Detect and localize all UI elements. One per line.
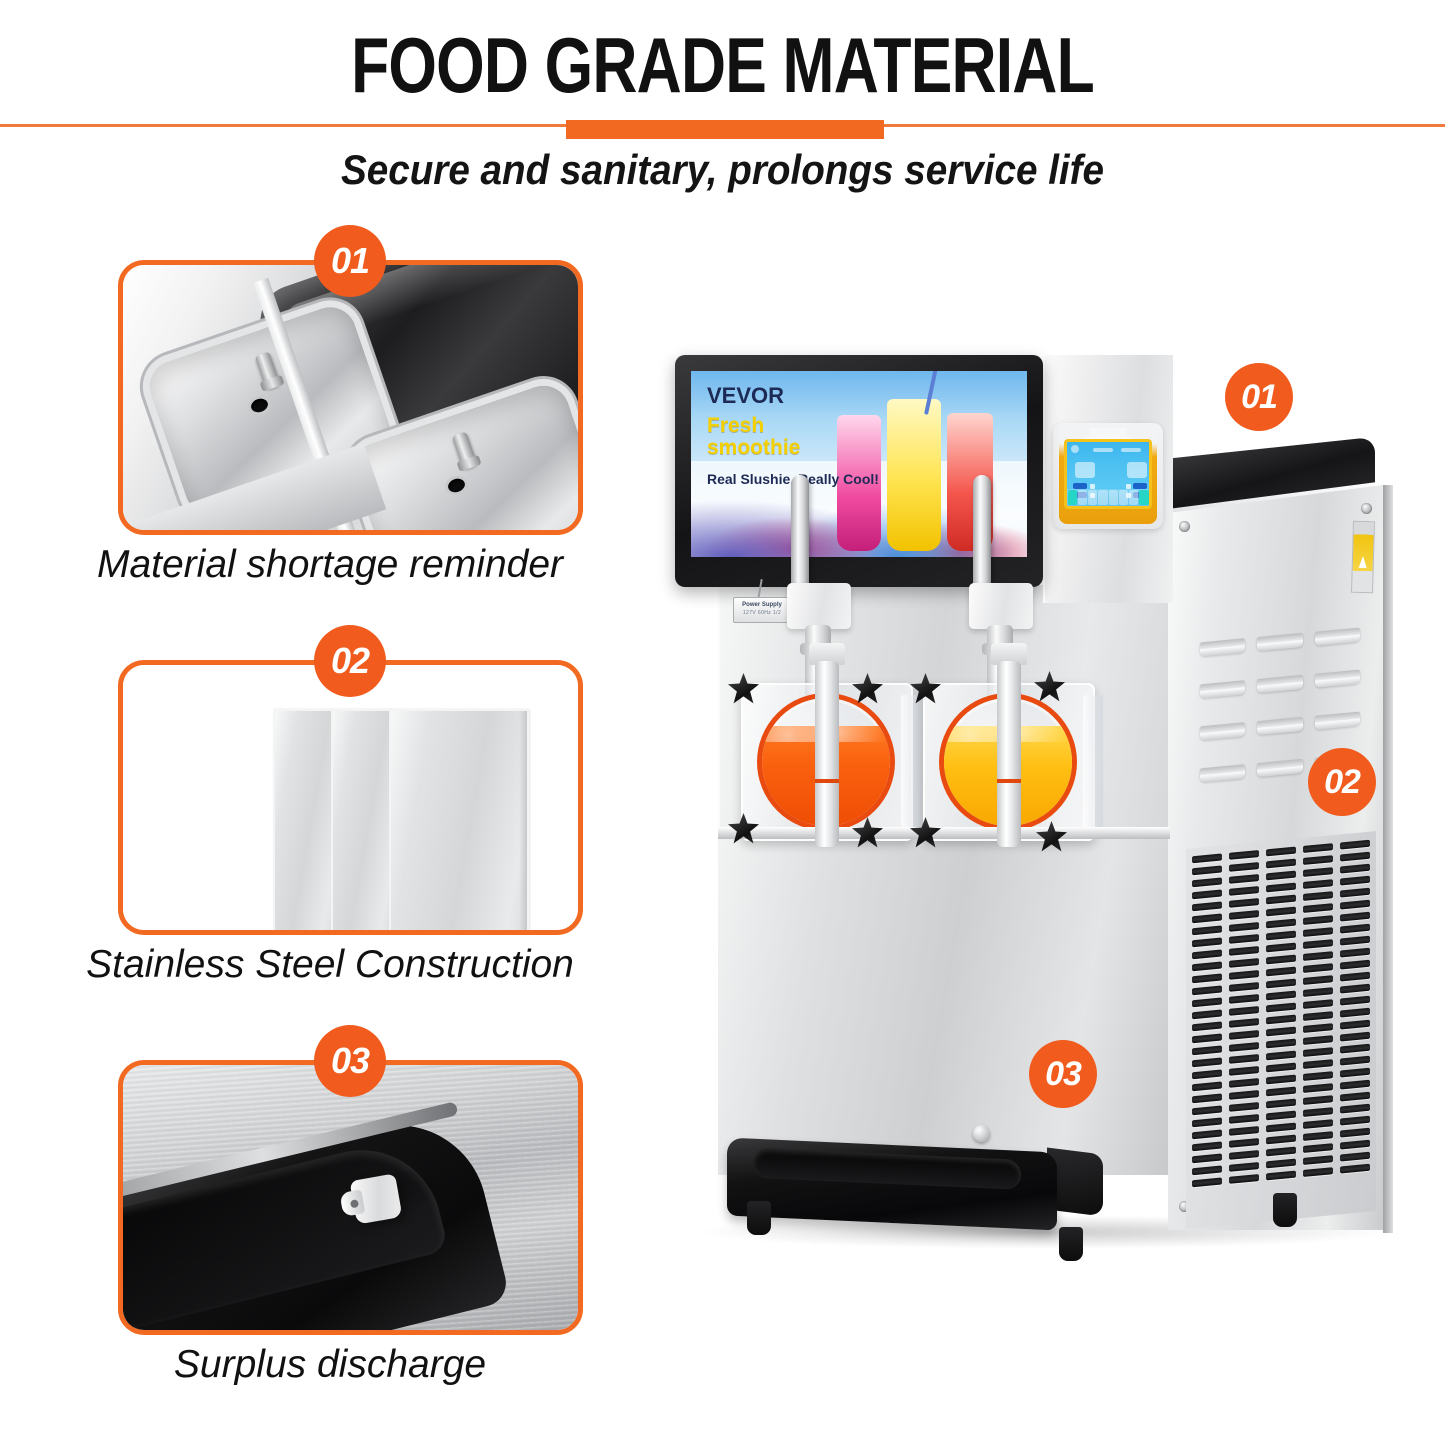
feature-badge-01: 01: [314, 225, 386, 297]
dispense-handle-right[interactable]: [973, 475, 991, 593]
steel-panel-3: [389, 709, 529, 935]
condenser-grille: [1186, 831, 1376, 1229]
right-pause-key[interactable]: [1139, 490, 1148, 505]
panel-screw: [1179, 521, 1190, 532]
control-key-row: [1067, 489, 1149, 506]
product-machine-image: VEVOR Freshsmoothie Real Slushie, Really…: [655, 335, 1445, 1335]
hopper-shelf: [718, 827, 1170, 839]
power-supply-label: Power Supply 127V 60Hz 1/2: [733, 597, 791, 623]
function-key-6[interactable]: [1129, 490, 1138, 505]
display-brand: VEVOR: [707, 383, 784, 409]
feature-03-frame: [118, 1060, 583, 1335]
power-supply-title: Power Supply: [734, 601, 790, 610]
dispense-handle-left[interactable]: [791, 475, 809, 593]
touchscreen-control-panel[interactable]: [1064, 439, 1152, 509]
title-accent-bar: [566, 120, 884, 139]
page-subtitle: Secure and sanitary, prolongs service li…: [58, 146, 1387, 194]
door-latch-knob[interactable]: [973, 1125, 990, 1142]
warning-sticker: [1351, 521, 1375, 594]
settings-gear-icon[interactable]: [1071, 445, 1079, 453]
function-key-1[interactable]: [1078, 490, 1087, 505]
left-hopper-label: [1093, 448, 1113, 452]
feature-badge-02: 02: [314, 625, 386, 697]
left-auger: [815, 661, 839, 847]
page-title: FOOD GRADE MATERIAL: [145, 26, 1301, 106]
feature-badge-03: 03: [314, 1025, 386, 1097]
header: FOOD GRADE MATERIAL Secure and sanitary,…: [0, 0, 1445, 205]
feature-03-image: [123, 1065, 578, 1330]
drip-tray[interactable]: [727, 1138, 1057, 1231]
feature-panel-01: 01 Material shortage reminder: [0, 225, 660, 600]
steel-panel-1: [273, 709, 333, 935]
right-auger: [997, 661, 1021, 847]
machine-foot: [747, 1201, 771, 1235]
right-hopper-label: [1121, 448, 1141, 452]
feature-01-image: [123, 265, 578, 530]
function-key-3[interactable]: [1098, 490, 1107, 505]
machine-foot: [1059, 1227, 1083, 1261]
machine-foot: [1273, 1193, 1297, 1227]
feature-panel-02: 02 Stainless Steel Construction: [0, 625, 660, 1000]
left-tank: [741, 683, 913, 841]
side-louvre-vents: [1200, 628, 1360, 853]
function-key-5[interactable]: [1119, 490, 1128, 505]
machine-badge-03: 03: [1029, 1040, 1097, 1108]
right-hopper-icon: [1127, 462, 1147, 478]
feature-caption-03: Surplus discharge: [0, 1343, 660, 1387]
function-key-4[interactable]: [1109, 490, 1118, 505]
feature-01-frame: [118, 260, 583, 535]
machine-badge-02: 02: [1308, 748, 1376, 816]
function-key-2[interactable]: [1088, 490, 1097, 505]
feature-02-frame: [118, 660, 583, 935]
front-lower-door: [718, 835, 1168, 1175]
display-headline: Freshsmoothie: [707, 415, 800, 459]
smoothie-glass-yellow: [887, 399, 941, 551]
left-hopper-icon: [1075, 462, 1095, 478]
left-pause-key[interactable]: [1068, 490, 1077, 505]
tap-body-left: [787, 583, 851, 629]
right-tank: [923, 683, 1095, 841]
feature-02-image: [123, 665, 578, 930]
panel-screw: [1361, 503, 1372, 514]
feature-caption-02: Stainless Steel Construction: [0, 943, 660, 987]
power-supply-value: 127V 60Hz 1/2: [734, 610, 790, 618]
tap-body-right: [969, 583, 1033, 629]
feature-caption-01: Material shortage reminder: [0, 543, 660, 587]
feature-panel-03: 03 Surplus discharge: [0, 1025, 660, 1415]
steel-panel-2: [331, 709, 391, 935]
side-panel-edge: [1383, 485, 1393, 1233]
surplus-drain-valve: [350, 1173, 403, 1224]
machine-badge-01: 01: [1225, 363, 1293, 431]
